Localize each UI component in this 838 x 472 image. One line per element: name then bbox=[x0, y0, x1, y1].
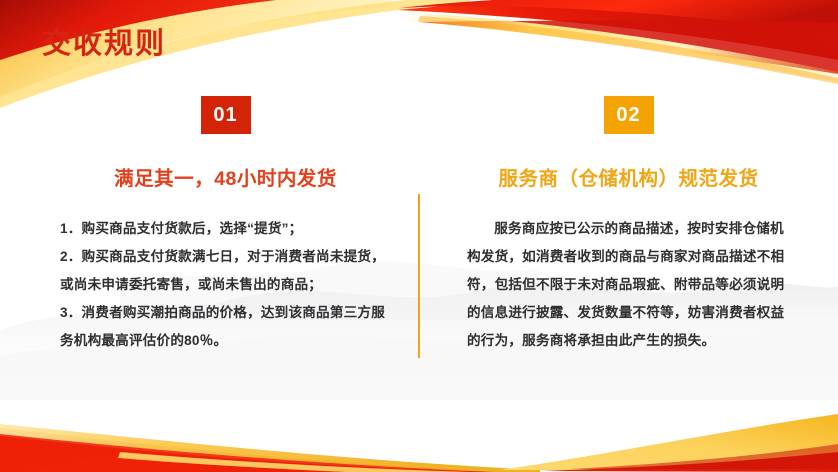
page-title: 交收规则 bbox=[42, 27, 166, 62]
column-01-paragraph-2: 2．购买商品支付货款满七日，对于消费者尚未提货，或尚未申请委托寄售，或尚未售出的… bbox=[60, 243, 391, 299]
badge-number-02: 02 bbox=[604, 96, 654, 134]
content-columns: 01 满足其一，48小时内发货 1．购买商品支付货款后，选择“提货”； 2．购买… bbox=[0, 96, 838, 436]
column-01: 01 满足其一，48小时内发货 1．购买商品支付货款后，选择“提货”； 2．购买… bbox=[0, 96, 419, 436]
column-02-paragraph-1: 服务商应按已公示的商品描述，按时安排仓储机构发货，如消费者收到的商品与商家对商品… bbox=[467, 215, 790, 354]
column-02: 02 服务商（仓储机构）规范发货 服务商应按已公示的商品描述，按时安排仓储机构发… bbox=[419, 96, 838, 436]
slide-canvas: 交收规则 01 满足其一，48小时内发货 1．购买商品支付货款后，选择“提货”；… bbox=[0, 0, 838, 472]
column-01-paragraph-3: 3．消费者购买潮拍商品的价格，达到该商品第三方服务机构最高评估价的80％。 bbox=[60, 299, 391, 355]
top-right-ribbon bbox=[398, 0, 838, 84]
column-02-body: 服务商应按已公示的商品描述，按时安排仓储机构发货，如消费者收到的商品与商家对商品… bbox=[467, 215, 790, 354]
badge-number-01: 01 bbox=[201, 96, 251, 134]
column-01-body: 1．购买商品支付货款后，选择“提货”； 2．购买商品支付货款满七日，对于消费者尚… bbox=[60, 215, 391, 354]
column-02-heading: 服务商（仓储机构）规范发货 bbox=[498, 168, 758, 191]
column-01-heading: 满足其一，48小时内发货 bbox=[114, 168, 337, 191]
column-01-paragraph-1: 1．购买商品支付货款后，选择“提货”； bbox=[60, 215, 391, 243]
